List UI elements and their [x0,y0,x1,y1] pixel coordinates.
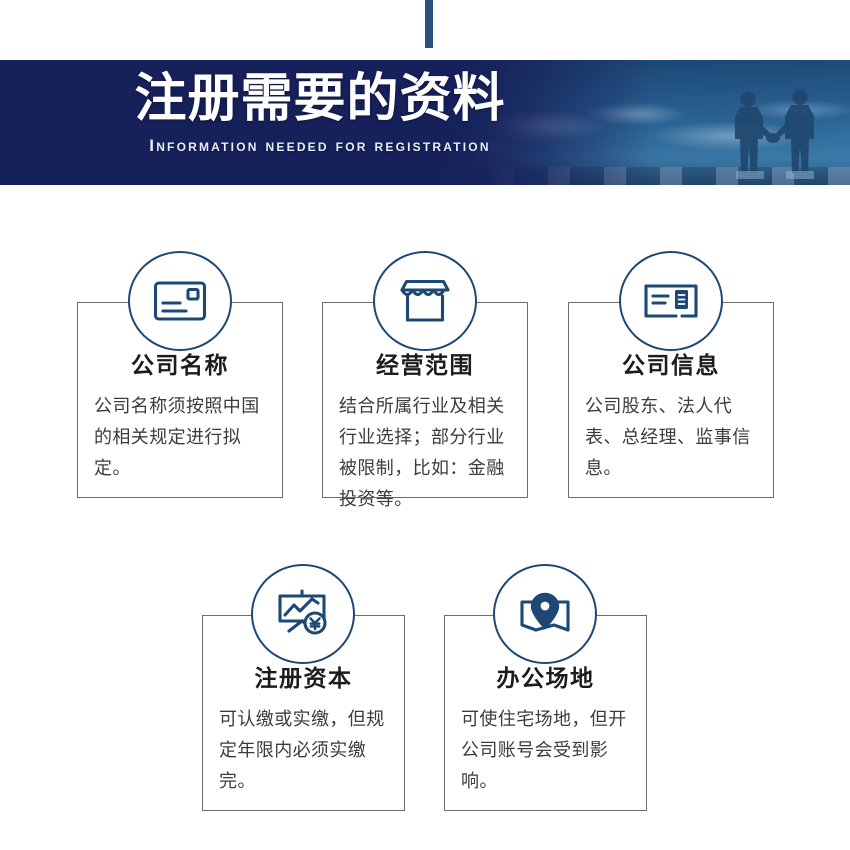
storefront-icon-badge [373,251,477,351]
business-card-icon [642,277,700,325]
chart-board-yuan-icon-badge [251,564,355,664]
card-title: 公司信息 [585,351,757,381]
chart-board-yuan-icon [274,588,332,640]
card-title: 公司名称 [94,351,266,381]
card-body: 公司名称须按照中国的相关规定进行拟定。 [94,391,266,484]
page-subtitle: Information needed for registration [0,130,640,156]
card-body: 可使住宅场地，但开公司账号会受到影响。 [461,704,630,797]
id-card-icon-badge [128,251,232,351]
id-card-icon [152,277,208,325]
page-title: 注册需要的资料 [0,60,640,130]
header-text-block: 注册需要的资料 Information needed for registrat… [0,60,640,185]
business-card-icon-badge [619,251,723,351]
card-body: 可认缴或实缴，但规定年限内必须实缴完。 [219,704,388,797]
top-accent-bar [425,0,433,48]
card-body: 结合所属行业及相关行业选择；部分行业被限制，比如：金融投资等。 [339,391,511,515]
card-title: 办公场地 [461,664,630,694]
handshake-figures-icon [714,83,832,179]
infographic-page: 注册需要的资料 Information needed for registrat… [0,0,850,850]
storefront-icon [397,276,453,326]
map-pin-icon [517,590,573,638]
map-pin-icon-badge [493,564,597,664]
card-title: 注册资本 [219,664,388,694]
card-body: 公司股东、法人代表、总经理、监事信息。 [585,391,757,484]
card-title: 经营范围 [339,351,511,381]
